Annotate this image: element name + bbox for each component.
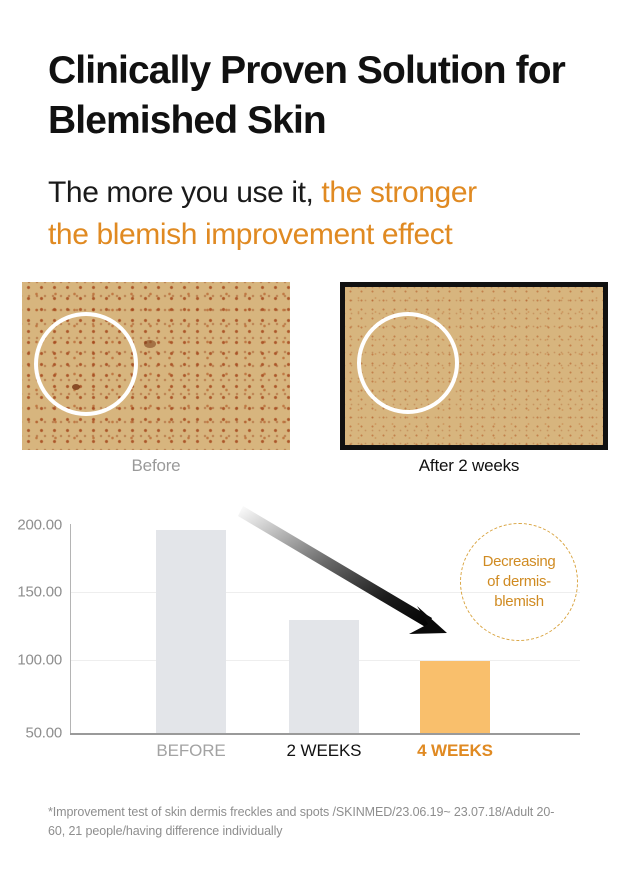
annotation-text: Decreasing of dermis- blemish xyxy=(477,552,562,612)
annotation-line-1: Decreasing xyxy=(483,553,556,570)
annotation-circle: Decreasing of dermis- blemish xyxy=(460,523,578,641)
annotation-line-2: of dermis- xyxy=(487,573,551,590)
decrease-arrow-icon xyxy=(0,0,628,879)
bar-chart: 200.00 150.00 100.00 50.00 BEFORE 2 WEEK… xyxy=(0,0,628,879)
footnote-disclaimer: *Improvement test of skin dermis freckle… xyxy=(48,803,568,841)
annotation-line-3: blemish xyxy=(494,593,544,610)
